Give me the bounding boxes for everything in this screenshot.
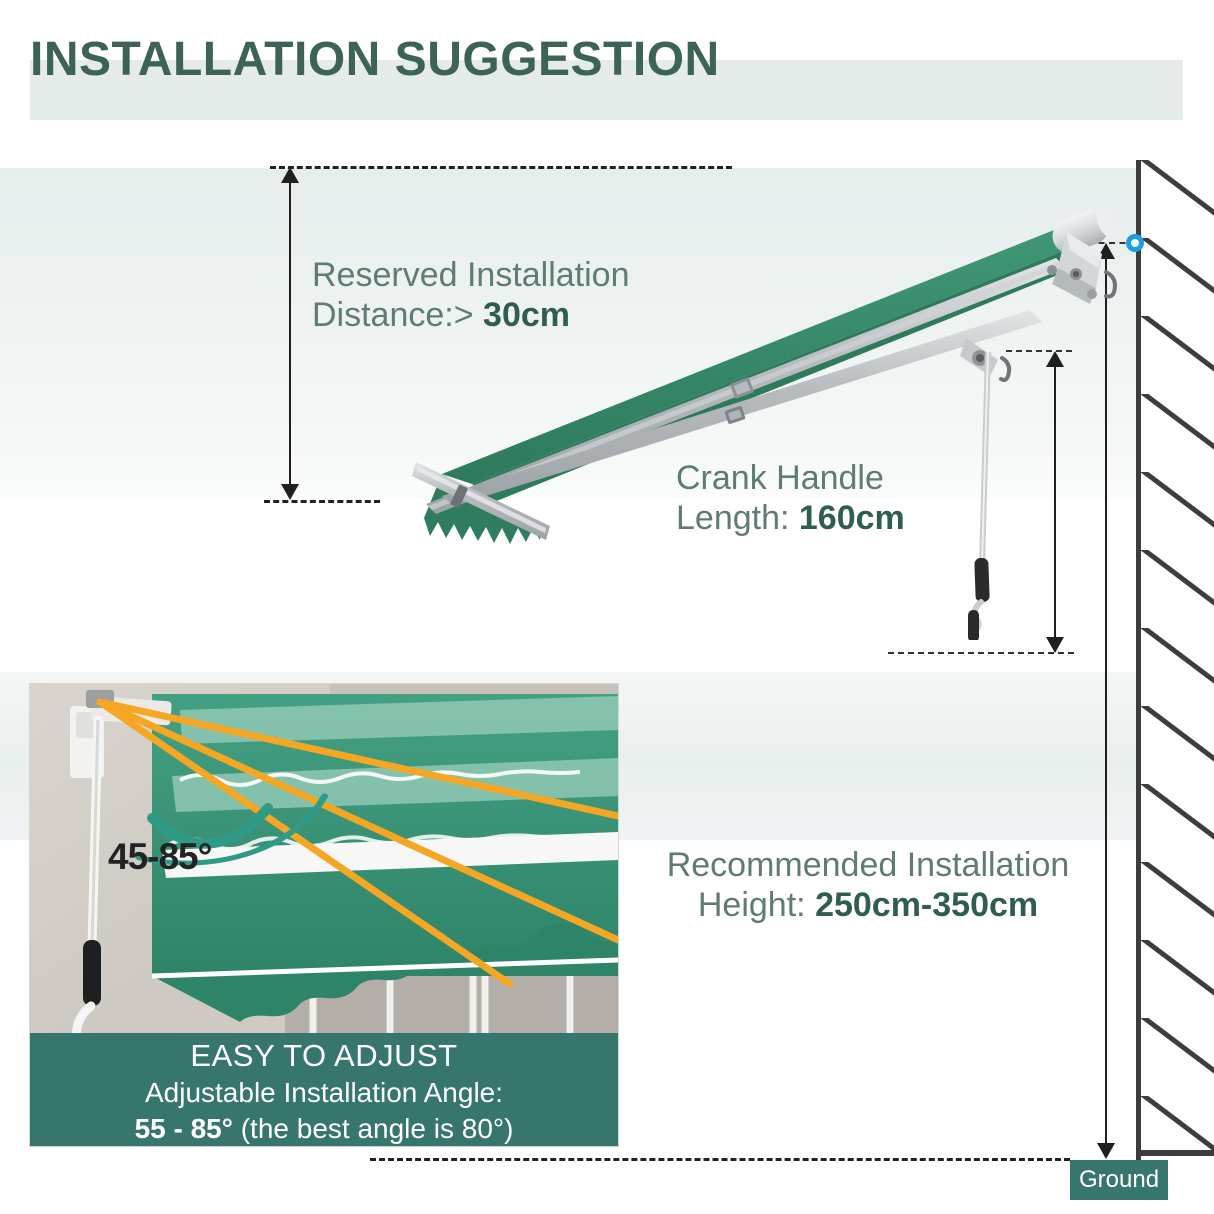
- inset-caption-title: EASY TO ADJUST: [30, 1037, 618, 1075]
- ground-label: Ground: [1070, 1160, 1168, 1200]
- reserved-distance-dim-line: [289, 172, 291, 494]
- inset-caption-suffix: (the best angle is 80°): [233, 1113, 513, 1144]
- reserved-distance-bottom-dashed-line: [264, 500, 380, 503]
- crank-handle-rod: [950, 352, 1030, 640]
- page-title: INSTALLATION SUGGESTION: [30, 30, 1130, 90]
- inset-caption-line2: Adjustable Installation Angle:: [30, 1075, 618, 1111]
- height-arrow-down-icon: [1097, 1143, 1115, 1159]
- crank-arrow-down-icon: [1046, 637, 1064, 653]
- reserved-distance-arrow-down-icon: [281, 484, 299, 500]
- inset-caption: EASY TO ADJUST Adjustable Installation A…: [30, 1033, 618, 1146]
- reserved-distance-top-dashed-line: [270, 166, 732, 169]
- installation-height-line1: Recommended Installation: [648, 845, 1088, 885]
- installation-height-callout: Recommended Installation Height: 250cm-3…: [648, 845, 1088, 925]
- wall-hatch-svg: [1141, 160, 1214, 1160]
- inset-caption-line3: 55 - 85° (the best angle is 80°): [30, 1111, 618, 1147]
- inset-angle-label: 45-85°: [108, 836, 211, 878]
- inset-caption-value: 55 - 85°: [135, 1113, 233, 1144]
- mount-point-marker-icon: [1126, 234, 1144, 252]
- installation-height-value: 250cm-350cm: [815, 886, 1038, 924]
- wall-base: [1136, 1150, 1214, 1156]
- illustration-canvas: INSTALLATION SUGGESTION Reserved Install…: [0, 0, 1214, 1214]
- reserved-distance-arrow-up-icon: [281, 167, 299, 183]
- ground-dashed-line: [370, 1158, 1070, 1161]
- installation-height-prefix: Height:: [698, 886, 815, 924]
- wall-hatching: [1136, 160, 1214, 1160]
- installation-height-line2: Height: 250cm-350cm: [648, 885, 1088, 925]
